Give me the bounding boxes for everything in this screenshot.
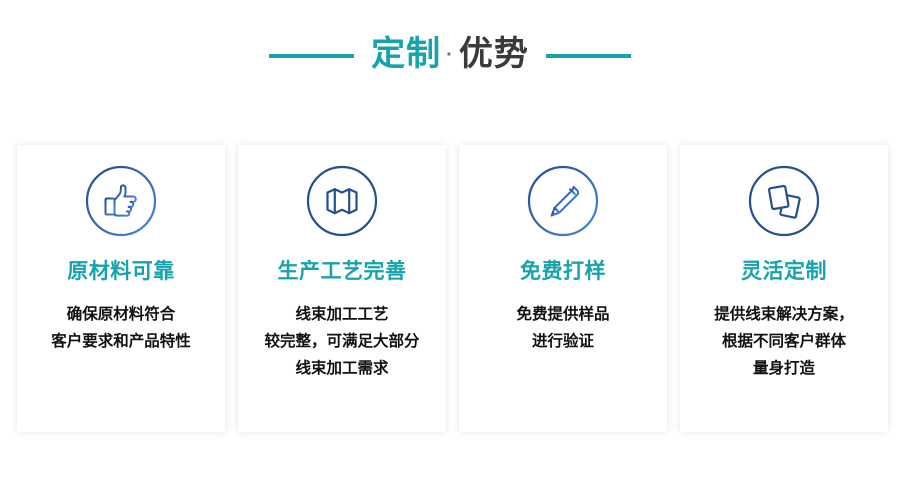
card-body-line: 客户要求和产品特性 [26,328,216,355]
card-body: 免费提供样品 进行验证 [468,301,658,355]
card-body-line: 量身打造 [689,355,879,382]
feature-card[interactable]: 生产工艺完善 线束加工工艺 较完整，可满足大部分 线束加工需求 [238,145,446,432]
heading-rule-left [269,54,354,58]
card-title: 灵活定制 [741,259,827,285]
feature-card[interactable]: 免费打样 免费提供样品 进行验证 [459,145,667,432]
card-body-line: 较完整，可满足大部分 [247,328,437,355]
card-title: 生产工艺完善 [278,259,407,285]
feature-card[interactable]: 原材料可靠 确保原材料符合 客户要求和产品特性 [17,145,225,432]
folded-map-icon [305,164,379,238]
card-title: 原材料可靠 [67,259,175,285]
card-body-line: 确保原材料符合 [26,301,216,328]
card-title: 免费打样 [520,259,606,285]
section-heading: 定制 · 优势 [0,28,900,84]
card-body-line: 线束加工工艺 [247,301,437,328]
feature-card-row: 原材料可靠 确保原材料符合 客户要求和产品特性 生产工艺完善 线束加工工艺 较完… [17,145,888,432]
heading-rule-right [546,54,631,58]
heading-main: 优势 [459,33,529,75]
thumbs-up-icon [84,164,158,238]
heading-accent: 定制 [371,33,441,75]
card-body-line: 提供线束解决方案， [689,301,879,328]
feature-card[interactable]: 灵活定制 提供线束解决方案， 根据不同客户群体 量身打造 [680,145,888,432]
heading-text: 定制 · 优势 [371,33,529,80]
card-body-line: 根据不同客户群体 [689,328,879,355]
card-body-line: 进行验证 [468,328,658,355]
card-body: 确保原材料符合 客户要求和产品特性 [26,301,216,355]
card-body: 提供线束解决方案， 根据不同客户群体 量身打造 [689,301,879,382]
pencil-icon [526,164,600,238]
heading-separator-dot: · [446,34,454,76]
card-body: 线束加工工艺 较完整，可满足大部分 线束加工需求 [247,301,437,382]
card-body-line: 线束加工需求 [247,355,437,382]
stacked-pages-icon [747,164,821,238]
card-body-line: 免费提供样品 [468,301,658,328]
